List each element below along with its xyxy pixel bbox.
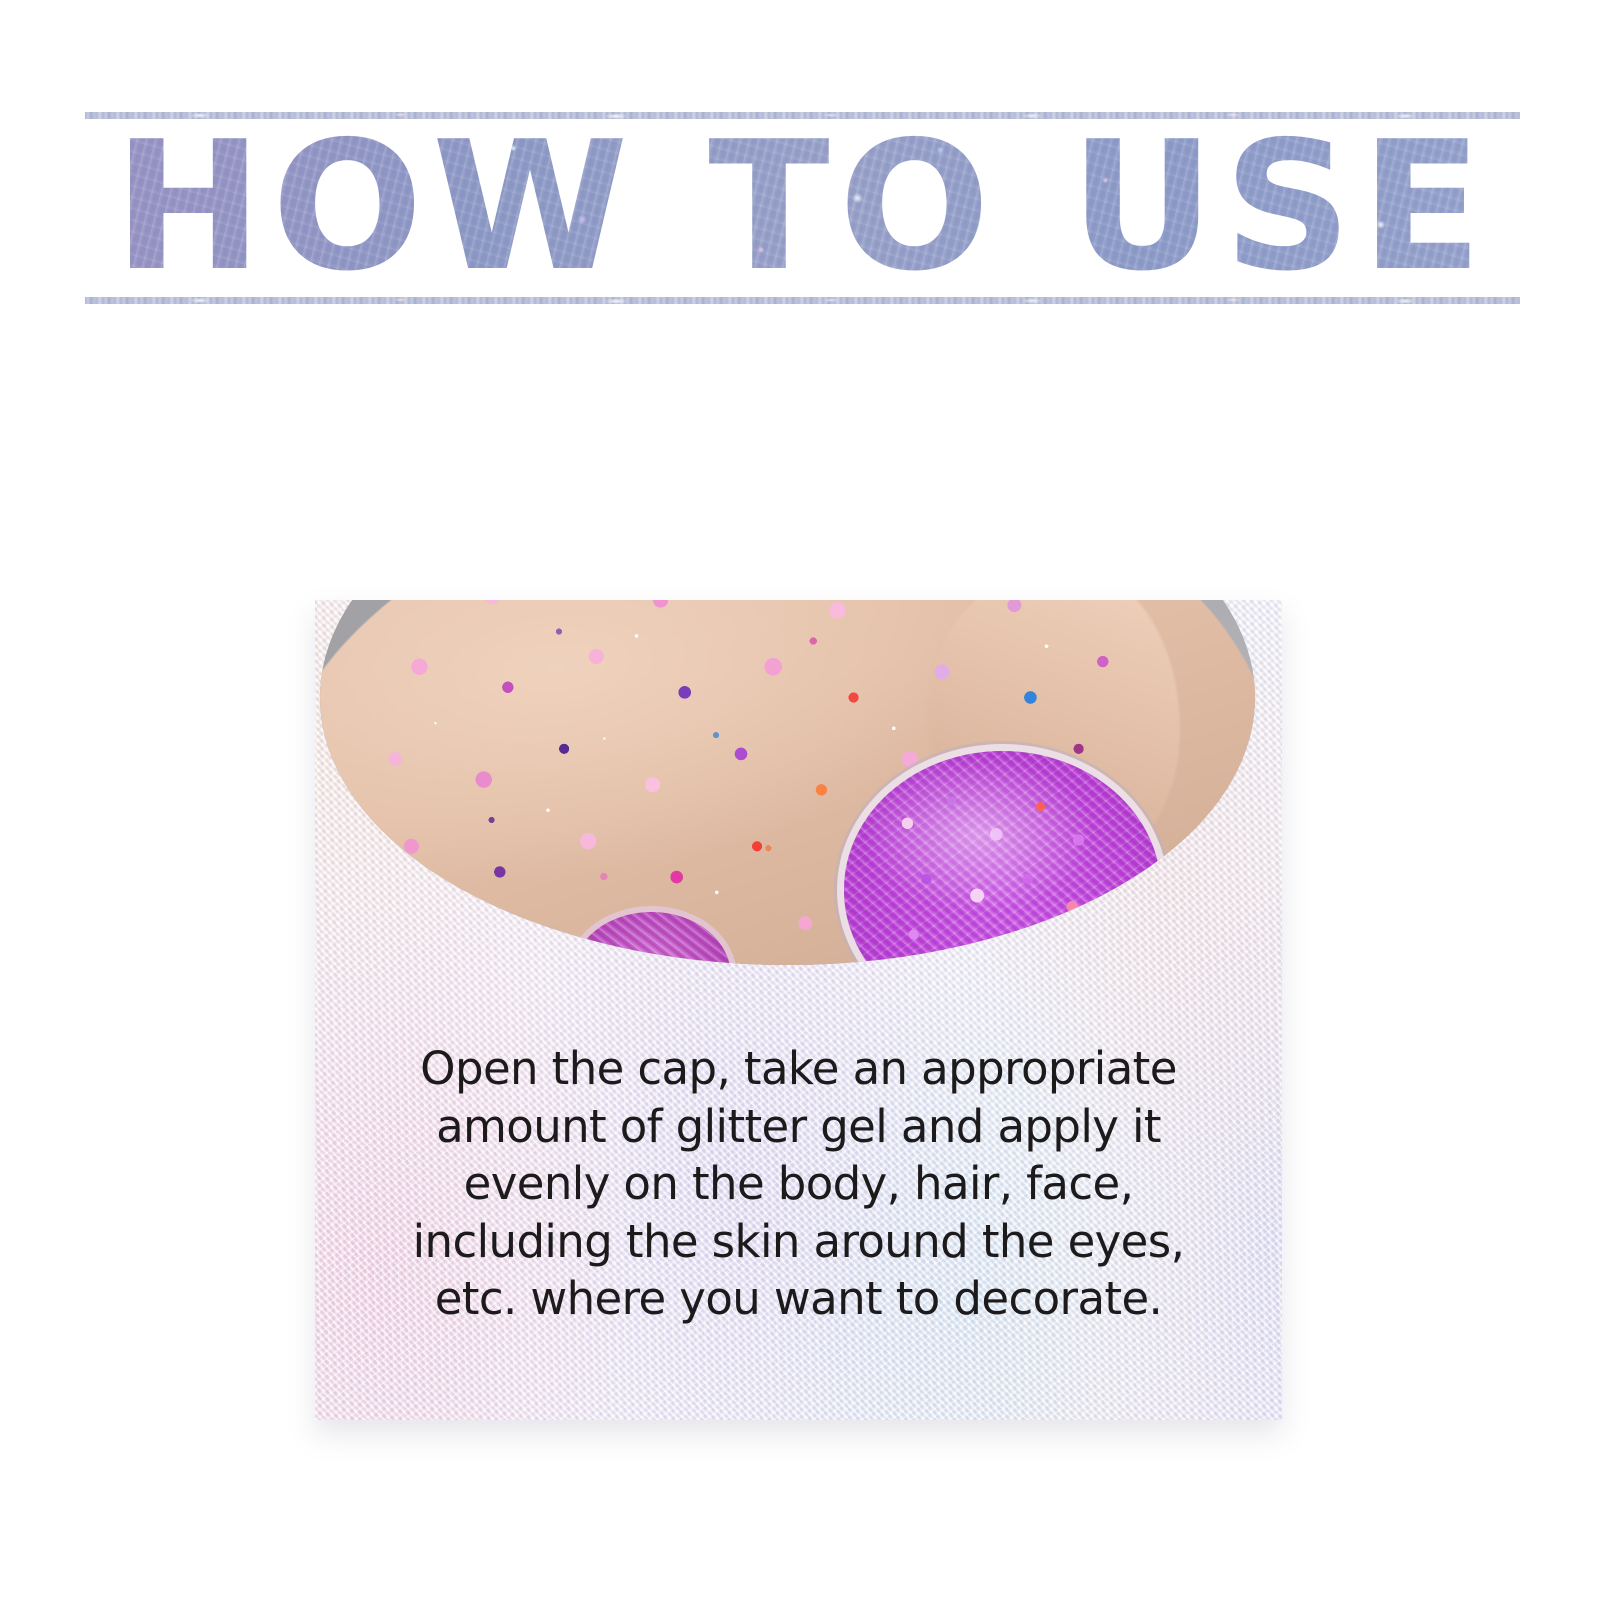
instruction-card: Open the cap, take an appropriate amount… xyxy=(315,600,1282,1420)
instruction-text: Open the cap, take an appropriate amount… xyxy=(405,1040,1192,1328)
header-bottom-rule xyxy=(85,297,1520,304)
header-banner: HOW TO USE xyxy=(85,112,1520,304)
title-container: HOW TO USE xyxy=(85,132,1520,282)
page-title: HOW TO USE xyxy=(114,118,1492,296)
product-photo-oval xyxy=(320,600,1255,965)
